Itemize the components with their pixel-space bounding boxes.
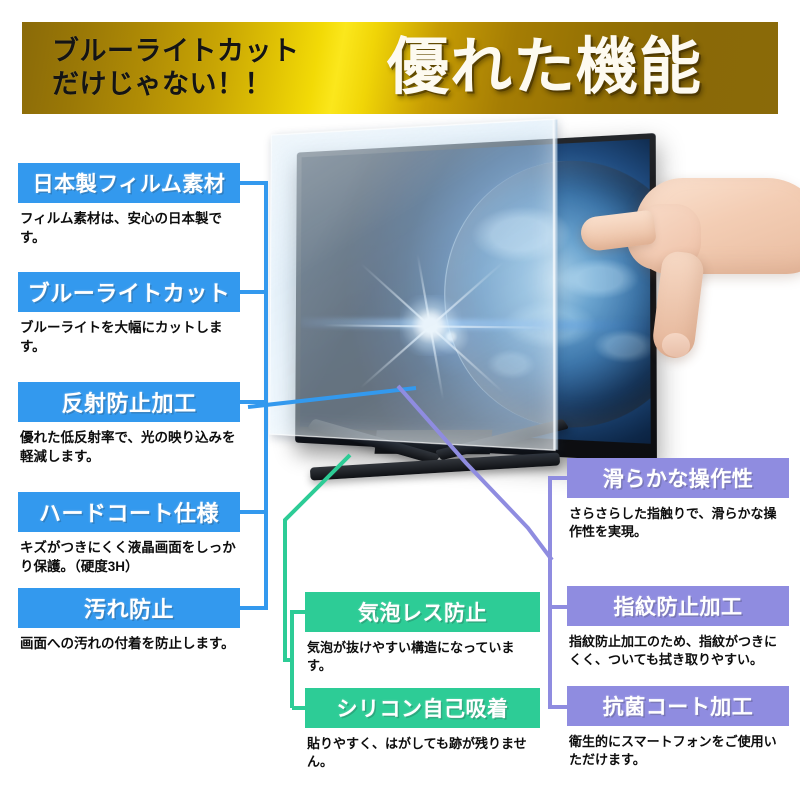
feature-hard-coat[interactable]: ハードコート仕様 キズがつきにくく液晶画面をしっかり保護。（硬度3H） [18,492,240,576]
feature-caption: 反射防止加工 [18,382,240,422]
feature-caption: ブルーライトカット [18,272,240,312]
feature-caption: 汚れ防止 [18,588,240,628]
feature-caption: 抗菌コート加工 [567,686,789,726]
banner-headline-group: 優れた機能 [387,26,767,110]
feature-description: さらさらした指触りで、滑らかな操作性を実現。 [567,505,789,541]
hand-touching-screen [605,170,800,370]
feature-description: キズがつきにくく液晶画面をしっかり保護。（硬度3H） [18,539,240,576]
feature-anti-stain[interactable]: 汚れ防止 画面への汚れの付着を防止します。 [18,588,240,654]
banner-subtitle-line2: だけじゃない！！ [52,68,442,101]
feature-bubble-less[interactable]: 気泡レス防止 気泡が抜けやすい構造になっています。 [305,592,540,675]
feature-description: 気泡が抜けやすい構造になっています。 [305,639,540,675]
feature-description: 指紋防止加工のため、指紋がつきにくく、ついても拭き取りやすい。 [567,633,789,669]
feature-description: 貼りやすく、はがしても跡が残りません。 [305,735,540,771]
feature-description: 優れた低反射率で、光の映り込みを軽減します。 [18,429,240,466]
feature-caption: 滑らかな操作性 [567,458,789,498]
header-banner: ブルーライトカット だけじゃない！！ 優れた機能 [22,22,778,114]
feature-description: ブルーライトを大幅にカットします。 [18,319,240,356]
feature-caption: ハードコート仕様 [18,492,240,532]
protective-film-sheet [269,119,556,451]
feature-smooth-operability[interactable]: 滑らかな操作性 さらさらした指触りで、滑らかな操作性を実現。 [567,458,789,541]
banner-subtitle-line1: ブルーライトカット [52,35,442,68]
feature-blue-light-cut[interactable]: ブルーライトカット ブルーライトを大幅にカットします。 [18,272,240,356]
feature-description: フィルム素材は、安心の日本製です。 [18,210,240,247]
feature-caption: 気泡レス防止 [305,592,540,632]
green-line-feature-1 [292,612,305,708]
feature-description: 衛生的にスマートフォンをご使用いただけます。 [567,733,789,769]
feature-caption: 日本製フィルム素材 [18,163,240,203]
feature-caption: 指紋防止加工 [567,586,789,626]
banner-subtitle-group: ブルーライトカット だけじゃない！！ [52,32,442,104]
feature-anti-fingerprint[interactable]: 指紋防止加工 指紋防止加工のため、指紋がつきにくく、ついても拭き取りやすい。 [567,586,789,669]
feature-japan-made-film-material[interactable]: 日本製フィルム素材 フィルム素材は、安心の日本製です。 [18,163,240,247]
infographic-root: ブルーライトカット だけじゃない！！ 優れた機能 [0,0,800,800]
blue-line-feature-5 [240,512,266,608]
purple-line-feature-3 [550,607,567,707]
feature-anti-reflection[interactable]: 反射防止加工 優れた低反射率で、光の映り込みを軽減します。 [18,382,240,466]
film-edge-highlight [553,120,558,450]
feature-description: 画面への汚れの付着を防止します。 [18,635,240,654]
banner-headline: 優れた機能 [387,37,702,99]
feature-caption: シリコン自己吸着 [305,688,540,728]
feature-silicone-self-adhesion[interactable]: シリコン自己吸着 貼りやすく、はがしても跡が残りません。 [305,688,540,771]
feature-antibacterial-coat[interactable]: 抗菌コート加工 衛生的にスマートフォンをご使用いただけます。 [567,686,789,769]
